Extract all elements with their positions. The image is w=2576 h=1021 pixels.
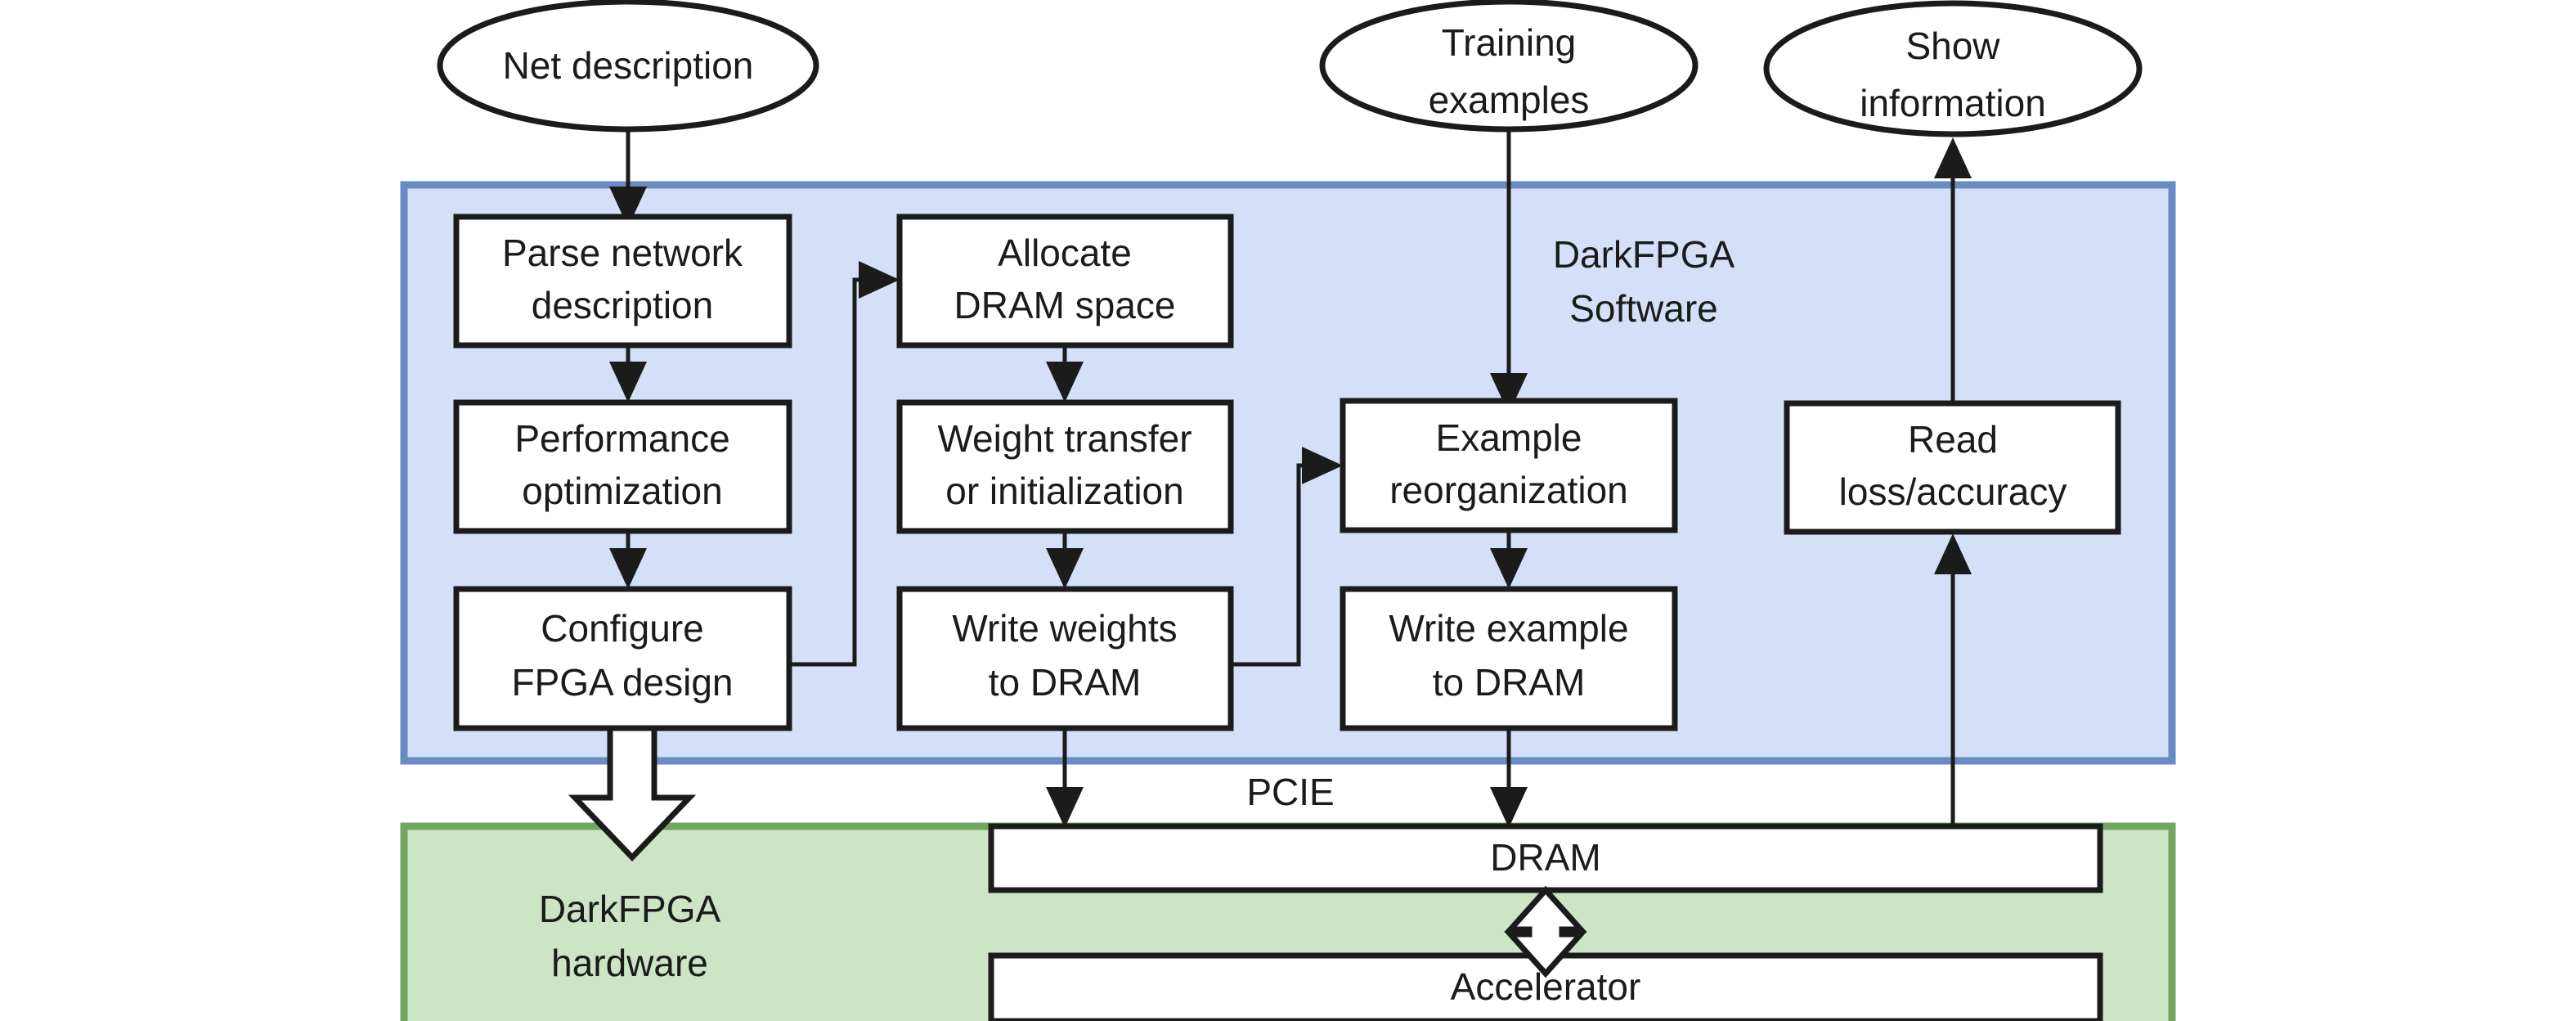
arrowhead-readloss-to-showinfo: [1934, 137, 1972, 178]
show-information-label-line2: information: [1860, 82, 2046, 124]
performance-optimization-label-line1: Performance: [514, 417, 729, 460]
parse-network-description-label-line2: description: [532, 284, 713, 326]
training-examples-label-line2: examples: [1429, 79, 1590, 121]
hardware-panel-label-line2: hardware: [551, 942, 708, 984]
parse-network-description-label-line1: Parse network: [502, 232, 743, 274]
allocate-dram-space-label-line1: Allocate: [998, 232, 1132, 274]
performance-optimization-label-line2: optimization: [522, 470, 722, 512]
read-loss-accuracy-label-line1: Read: [1908, 418, 1998, 461]
write-weights-to-dram-label-line1: Write weights: [952, 607, 1177, 650]
write-example-to-dram-label-line2: to DRAM: [1433, 661, 1586, 704]
arrowhead-writeexample-to-dram: [1490, 787, 1528, 828]
pcie-label: PCIE: [1246, 771, 1334, 813]
weight-transfer-label-line2: or initialization: [945, 470, 1183, 512]
read-loss-accuracy-label-line2: loss/accuracy: [1839, 470, 2067, 513]
example-reorganization-label-line2: reorganization: [1389, 469, 1628, 511]
write-weights-to-dram-label-line2: to DRAM: [989, 661, 1142, 704]
example-reorganization-label-line1: Example: [1436, 416, 1582, 459]
configure-fpga-design-label-line2: FPGA design: [511, 661, 733, 704]
flow-diagram-root: DarkFPGA Software DarkFPGA hardware: [0, 0, 2576, 1021]
arrowhead-writeweights-to-dram: [1046, 787, 1084, 828]
allocate-dram-space-label-line2: DRAM space: [954, 284, 1176, 326]
weight-transfer-label-line1: Weight transfer: [937, 417, 1192, 460]
training-examples-label-line1: Training: [1442, 21, 1576, 64]
darkfpga-flow-diagram: DarkFPGA Software DarkFPGA hardware: [0, 0, 2576, 1021]
dram-label: DRAM: [1490, 836, 1600, 879]
configure-fpga-design-label-line1: Configure: [541, 607, 703, 650]
software-panel-label-line1: DarkFPGA: [1553, 233, 1735, 276]
net-description-label-line1: Net description: [503, 44, 754, 87]
show-information-label-line1: Show: [1905, 25, 2000, 67]
write-example-to-dram-label-line1: Write example: [1389, 607, 1628, 650]
hardware-panel-label-line1: DarkFPGA: [539, 888, 721, 930]
software-panel-label-line2: Software: [1569, 287, 1718, 330]
